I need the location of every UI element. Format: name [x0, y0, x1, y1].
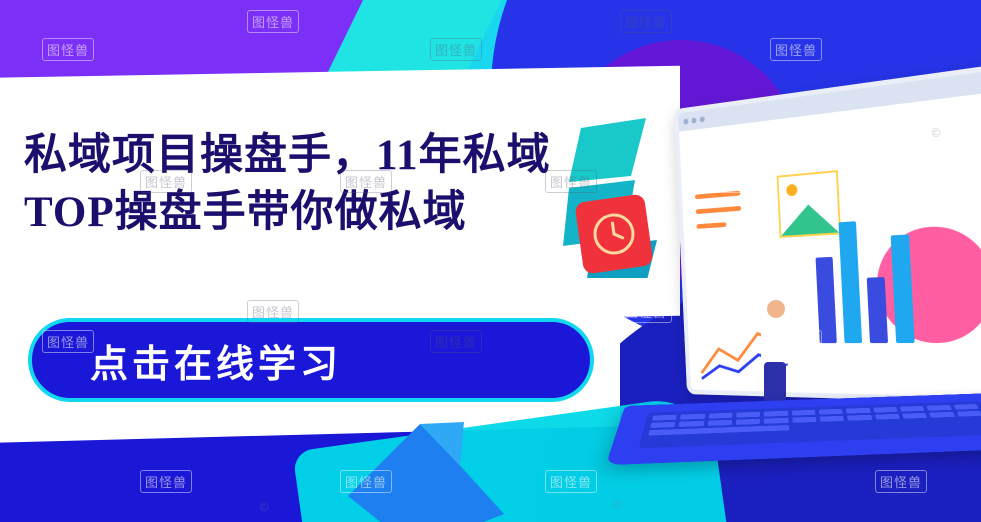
key — [652, 415, 677, 421]
bar-chart-bar — [867, 277, 888, 343]
key — [819, 409, 843, 415]
sun-icon — [786, 184, 798, 197]
key — [902, 413, 927, 419]
key — [847, 415, 872, 421]
key — [650, 422, 676, 428]
hill-icon — [780, 202, 839, 236]
window-dot-icon — [691, 117, 696, 123]
person-figure — [753, 300, 799, 410]
window-dot-icon — [683, 118, 688, 124]
bar-chart-bar — [816, 257, 837, 343]
keyboard — [639, 401, 981, 448]
person-body — [761, 318, 789, 364]
cta-label: 点击在线学习 — [32, 333, 342, 388]
image-card-icon — [777, 170, 841, 238]
key — [679, 421, 704, 427]
key — [927, 405, 952, 411]
blue-arrow-icon — [348, 418, 528, 522]
key — [792, 417, 816, 423]
key — [846, 408, 870, 414]
laptop-illustration — [561, 0, 981, 522]
bar-chart-bar — [839, 221, 863, 343]
key — [900, 406, 925, 412]
key — [929, 412, 955, 418]
window-dot-icon — [700, 116, 705, 122]
key — [764, 418, 788, 424]
key — [956, 411, 981, 417]
laptop-keyboard-base — [606, 393, 981, 465]
key — [764, 411, 788, 417]
online-learning-cta-button[interactable]: 点击在线学习 — [28, 318, 594, 402]
promo-poster: 私域项目操盘手，11年私域 TOP操盘手带你做私域 点击在线学习 图怪兽图怪兽图… — [0, 0, 981, 522]
key — [873, 407, 898, 413]
page-title: 私域项目操盘手，11年私域 TOP操盘手带你做私域 — [24, 128, 784, 242]
key — [736, 419, 760, 425]
key — [953, 404, 978, 410]
key — [680, 414, 705, 420]
key — [736, 412, 760, 418]
key — [791, 410, 815, 416]
person-head — [767, 300, 785, 318]
key — [707, 420, 732, 426]
key — [875, 414, 900, 420]
key — [708, 413, 732, 419]
key — [820, 416, 845, 422]
